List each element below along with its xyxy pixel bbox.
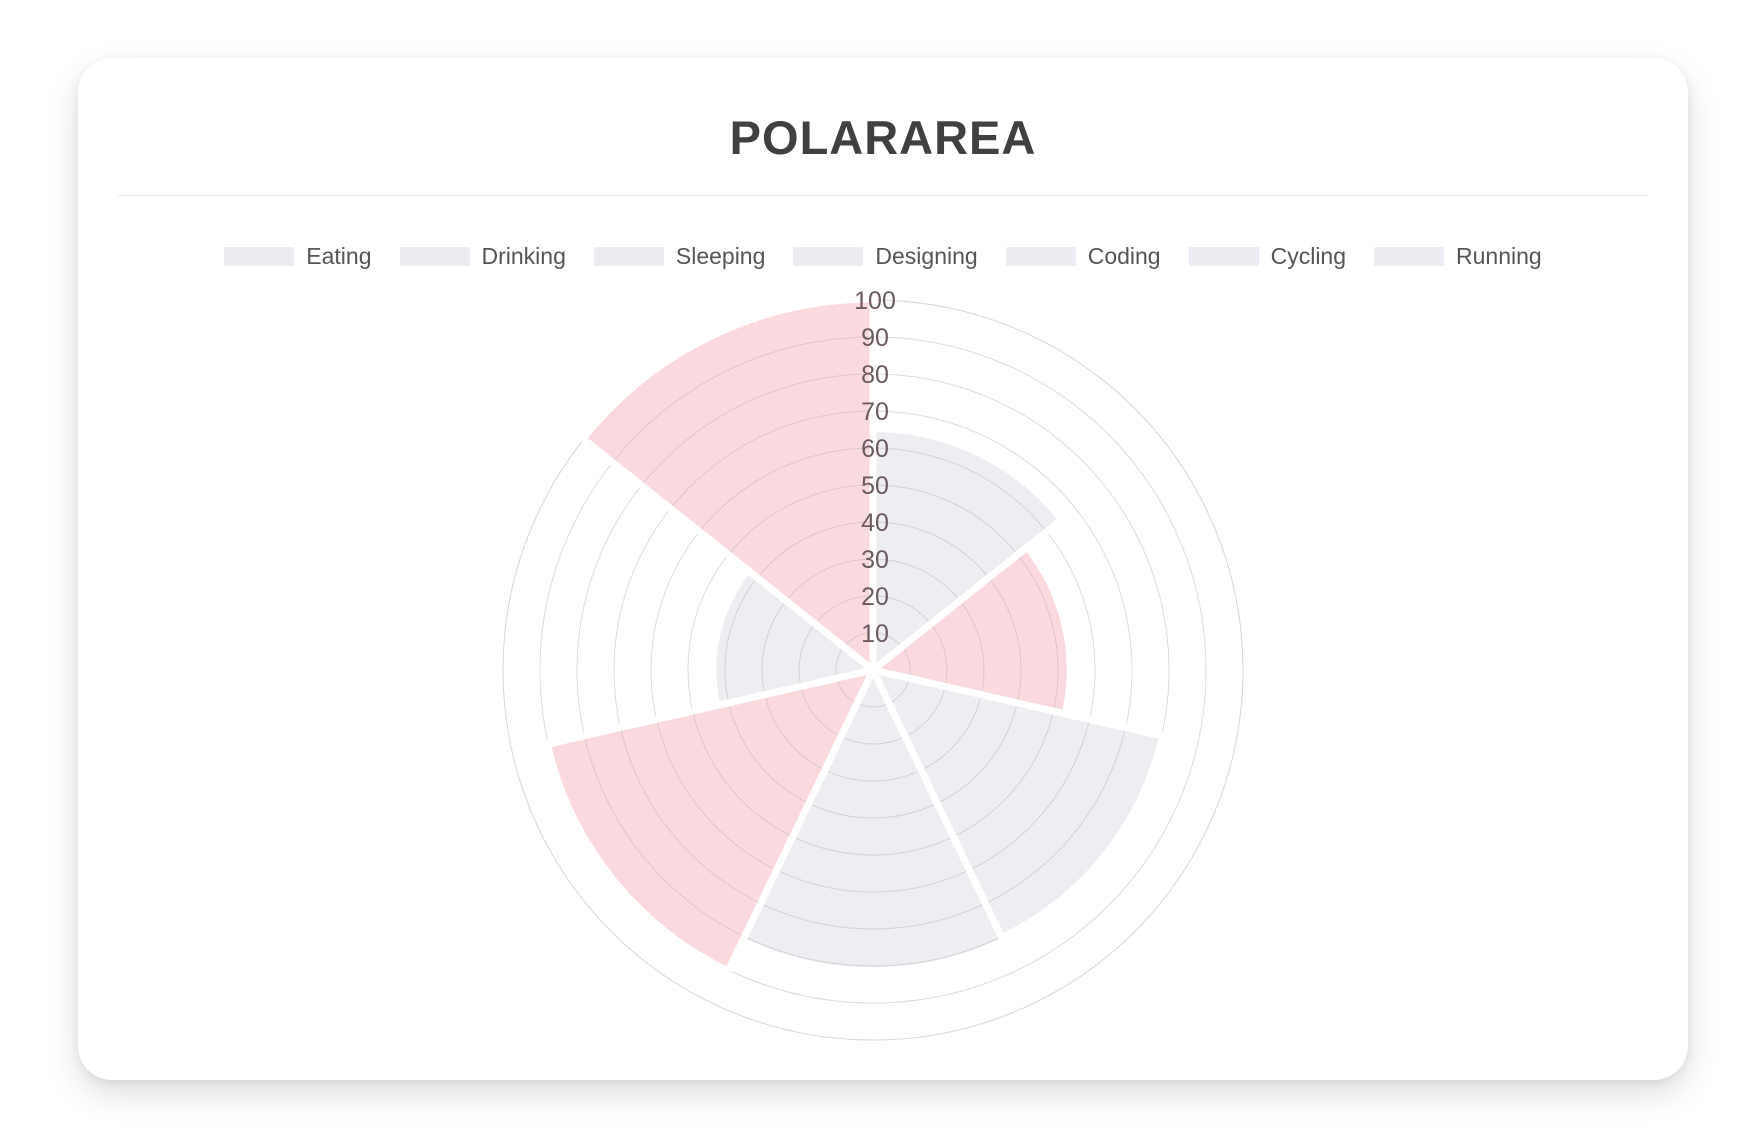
grid-ring-70 [614, 411, 1132, 929]
sector-separator-group [548, 300, 1161, 970]
legend-item-cycling[interactable]: Cycling [1189, 243, 1346, 270]
sector-outline-eating [873, 430, 1061, 521]
sector-separator [584, 439, 873, 670]
legend-swatch-icon [224, 247, 294, 266]
legend-item-designing[interactable]: Designing [793, 243, 977, 270]
grid-rings-group [503, 300, 1243, 1040]
grid-ring-10 [836, 633, 910, 707]
sector-drinking[interactable] [873, 548, 1069, 714]
radial-tick-label-50: 50 [861, 472, 889, 500]
sector-outline-running [584, 300, 873, 439]
sector-cycling[interactable] [714, 571, 873, 706]
legend-item-label: Drinking [482, 243, 566, 270]
legend-swatch-icon [1006, 247, 1076, 266]
sector-running[interactable] [584, 300, 873, 670]
legend-item-eating[interactable]: Eating [224, 243, 371, 270]
grid-ring-80 [577, 374, 1169, 966]
radial-tick-label-10: 10 [861, 620, 889, 648]
legend-item-label: Eating [306, 243, 371, 270]
polar-area-plot: 102030405060708090100 [78, 58, 1688, 1080]
grid-ring-90 [540, 337, 1206, 1003]
sector-outline-cycling [714, 571, 749, 706]
sector-separator [873, 670, 1003, 940]
legend-swatch-icon [793, 247, 863, 266]
legend-item-label: Sleeping [676, 243, 766, 270]
legend-swatch-icon [400, 247, 470, 266]
legend-item-label: Running [1456, 243, 1542, 270]
legend-item-label: Coding [1088, 243, 1161, 270]
grid-ring-40 [725, 522, 1021, 818]
legend-item-running[interactable]: Running [1374, 243, 1542, 270]
polar-area-svg: 102030405060708090100 [78, 58, 1688, 1080]
sector-group [548, 300, 1161, 970]
page-root: POLARAREA EatingDrinkingSleepingDesignin… [0, 0, 1763, 1146]
grid-ring-100 [503, 300, 1243, 1040]
sector-separator [873, 520, 1061, 670]
radial-tick-label-90: 90 [861, 324, 889, 352]
sector-separator [548, 670, 873, 744]
radial-tick-label-80: 80 [861, 361, 889, 389]
chart-card: POLARAREA EatingDrinkingSleepingDesignin… [78, 58, 1688, 1080]
legend-item-label: Cycling [1271, 243, 1346, 270]
radial-tick-label-70: 70 [861, 398, 889, 426]
sector-outline-sleeping [1001, 736, 1161, 937]
grid-ring-60 [651, 448, 1095, 892]
radial-axis-group: 102030405060708090100 [854, 287, 896, 648]
legend-swatch-icon [594, 247, 664, 266]
legend-item-label: Designing [875, 243, 977, 270]
sector-sleeping[interactable] [873, 670, 1162, 937]
sector-outline-coding [548, 744, 728, 970]
title-divider [118, 195, 1648, 196]
chart-legend: EatingDrinkingSleepingDesigningCodingCyc… [78, 243, 1688, 270]
sector-outline-group [548, 300, 1161, 970]
sector-designing[interactable] [743, 670, 1003, 970]
radial-tick-label-40: 40 [861, 509, 889, 537]
sector-outline-drinking [1026, 548, 1069, 714]
sector-outline-designing [743, 940, 1003, 970]
radial-tick-label-100: 100 [854, 287, 896, 315]
grid-ring-20 [799, 596, 947, 744]
legend-item-sleeping[interactable]: Sleeping [594, 243, 766, 270]
legend-swatch-icon [1189, 247, 1259, 266]
grid-ring-50 [688, 485, 1058, 855]
page-title: POLARAREA [78, 110, 1688, 165]
radial-tick-label-60: 60 [861, 435, 889, 463]
sector-eating[interactable] [873, 430, 1061, 671]
legend-item-drinking[interactable]: Drinking [400, 243, 566, 270]
legend-swatch-icon [1374, 247, 1444, 266]
radial-tick-label-30: 30 [861, 546, 889, 574]
sector-separator [729, 670, 873, 970]
legend-item-coding[interactable]: Coding [1006, 243, 1161, 270]
sector-separator [873, 670, 1162, 736]
grid-ring-30 [762, 559, 984, 781]
sector-coding[interactable] [548, 670, 873, 970]
radial-tick-label-20: 20 [861, 583, 889, 611]
